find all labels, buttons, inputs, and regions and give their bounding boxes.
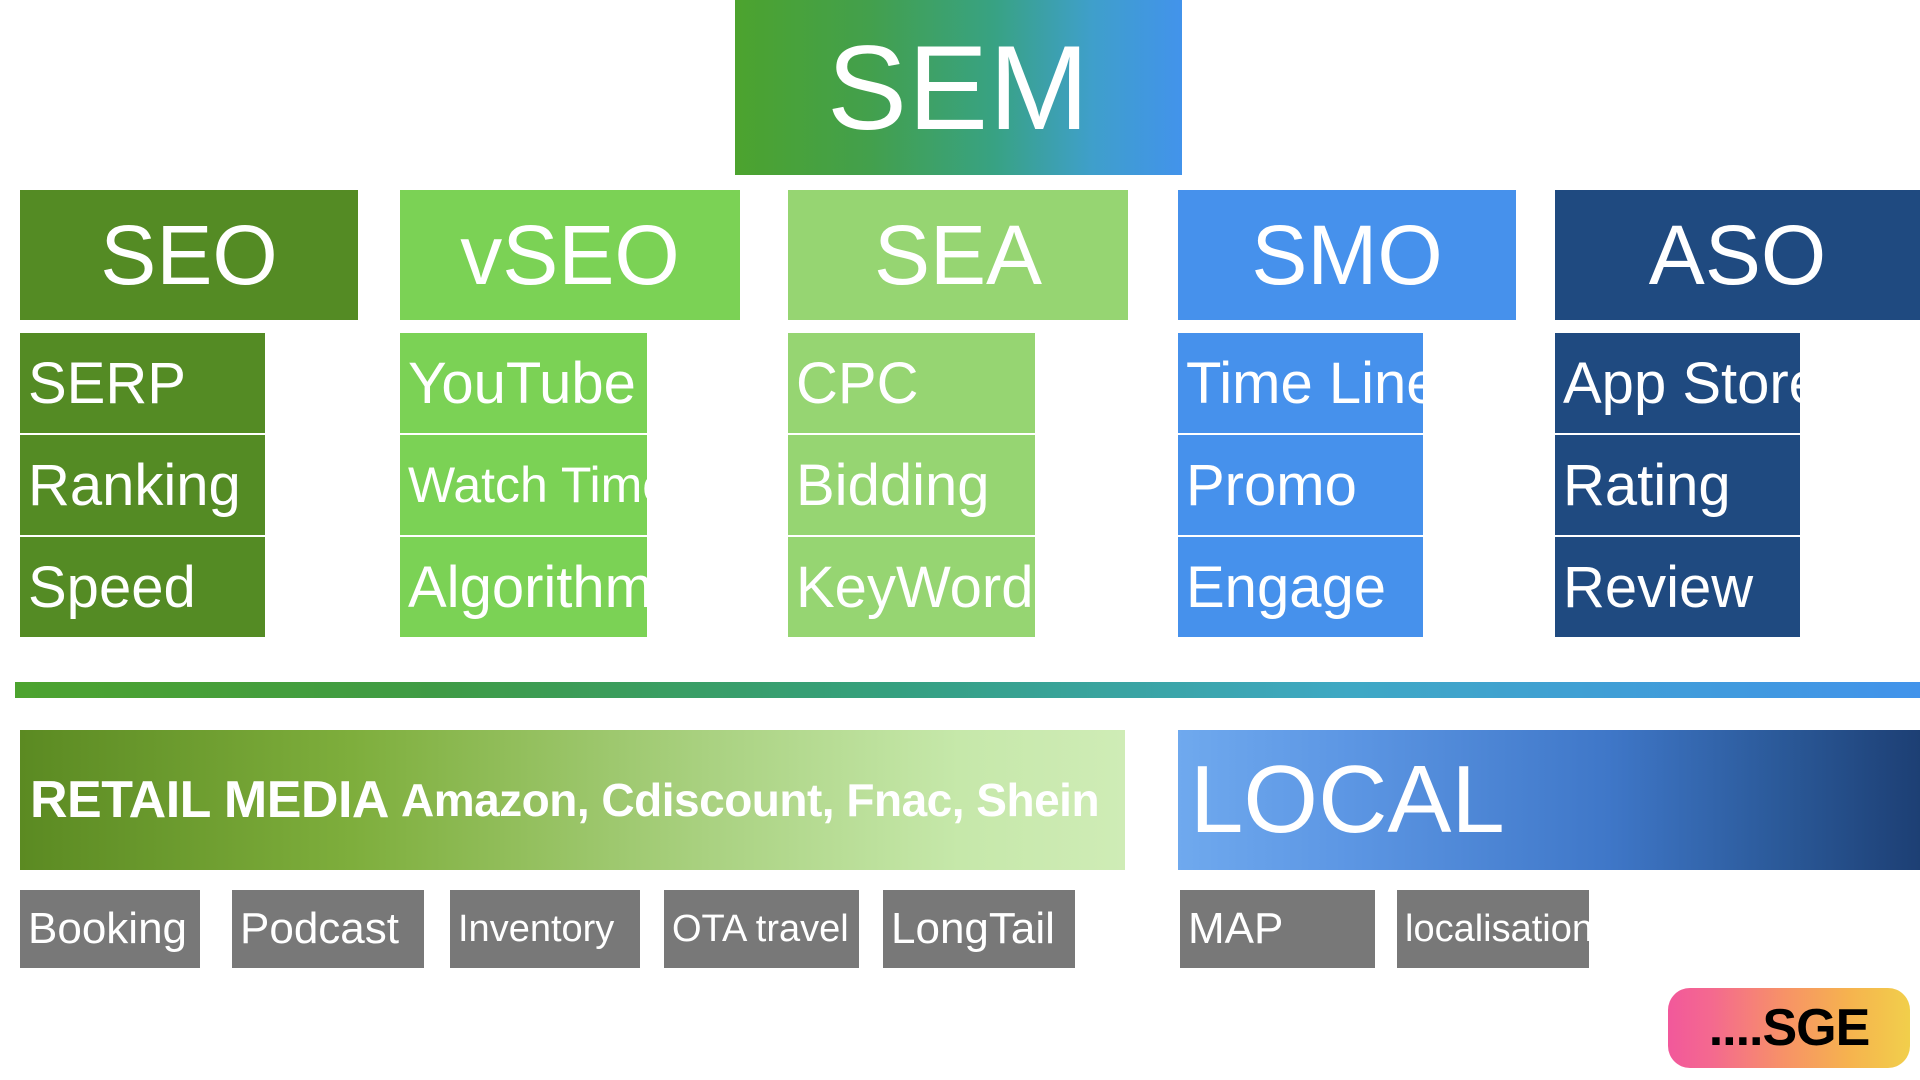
tag-podcast: Podcast — [232, 890, 424, 968]
node-smo-item-3: Engage — [1178, 537, 1423, 637]
node-smo-item-2: Promo — [1178, 435, 1423, 535]
node-seo-item-3: Speed — [20, 537, 265, 637]
node-vseo-item-1: YouTube — [400, 333, 647, 433]
tag-longtail: LongTail — [883, 890, 1075, 968]
node-sea-item-3: KeyWord — [788, 537, 1035, 637]
tag-booking: Booking — [20, 890, 200, 968]
tag-map: MAP — [1180, 890, 1375, 968]
node-header-smo: SMO — [1178, 190, 1516, 320]
node-aso-item-1: App Store — [1555, 333, 1800, 433]
node-header-aso: ASO — [1555, 190, 1920, 320]
tag-inventory: Inventory — [450, 890, 640, 968]
banner-retail-media: RETAIL MEDIA Amazon, Cdiscount, Fnac, Sh… — [20, 730, 1125, 870]
badge-sge: ....SGE — [1668, 988, 1910, 1068]
tag-ota-travel: OTA travel — [664, 890, 859, 968]
node-vseo-item-2: Watch Time — [400, 435, 647, 535]
retail-media-title: RETAIL MEDIA — [30, 770, 389, 830]
diagram-canvas: SEM SEO SERP Ranking Speed vSEO YouTube … — [0, 0, 1920, 1080]
section-divider — [15, 682, 1920, 698]
node-sem: SEM — [735, 0, 1182, 175]
node-header-seo: SEO — [20, 190, 358, 320]
node-aso-item-3: Review — [1555, 537, 1800, 637]
node-smo-item-1: Time Line — [1178, 333, 1423, 433]
tag-localisation: localisation — [1397, 890, 1589, 968]
banner-local: LOCAL — [1178, 730, 1920, 870]
node-sea-item-1: CPC — [788, 333, 1035, 433]
node-vseo-item-3: Algorithm — [400, 537, 647, 637]
node-seo-item-2: Ranking — [20, 435, 265, 535]
node-seo-item-1: SERP — [20, 333, 265, 433]
retail-media-brands: Amazon, Cdiscount, Fnac, Shein — [401, 773, 1099, 827]
node-header-sea: SEA — [788, 190, 1128, 320]
node-aso-item-2: Rating — [1555, 435, 1800, 535]
node-header-vseo: vSEO — [400, 190, 740, 320]
node-sea-item-2: Bidding — [788, 435, 1035, 535]
